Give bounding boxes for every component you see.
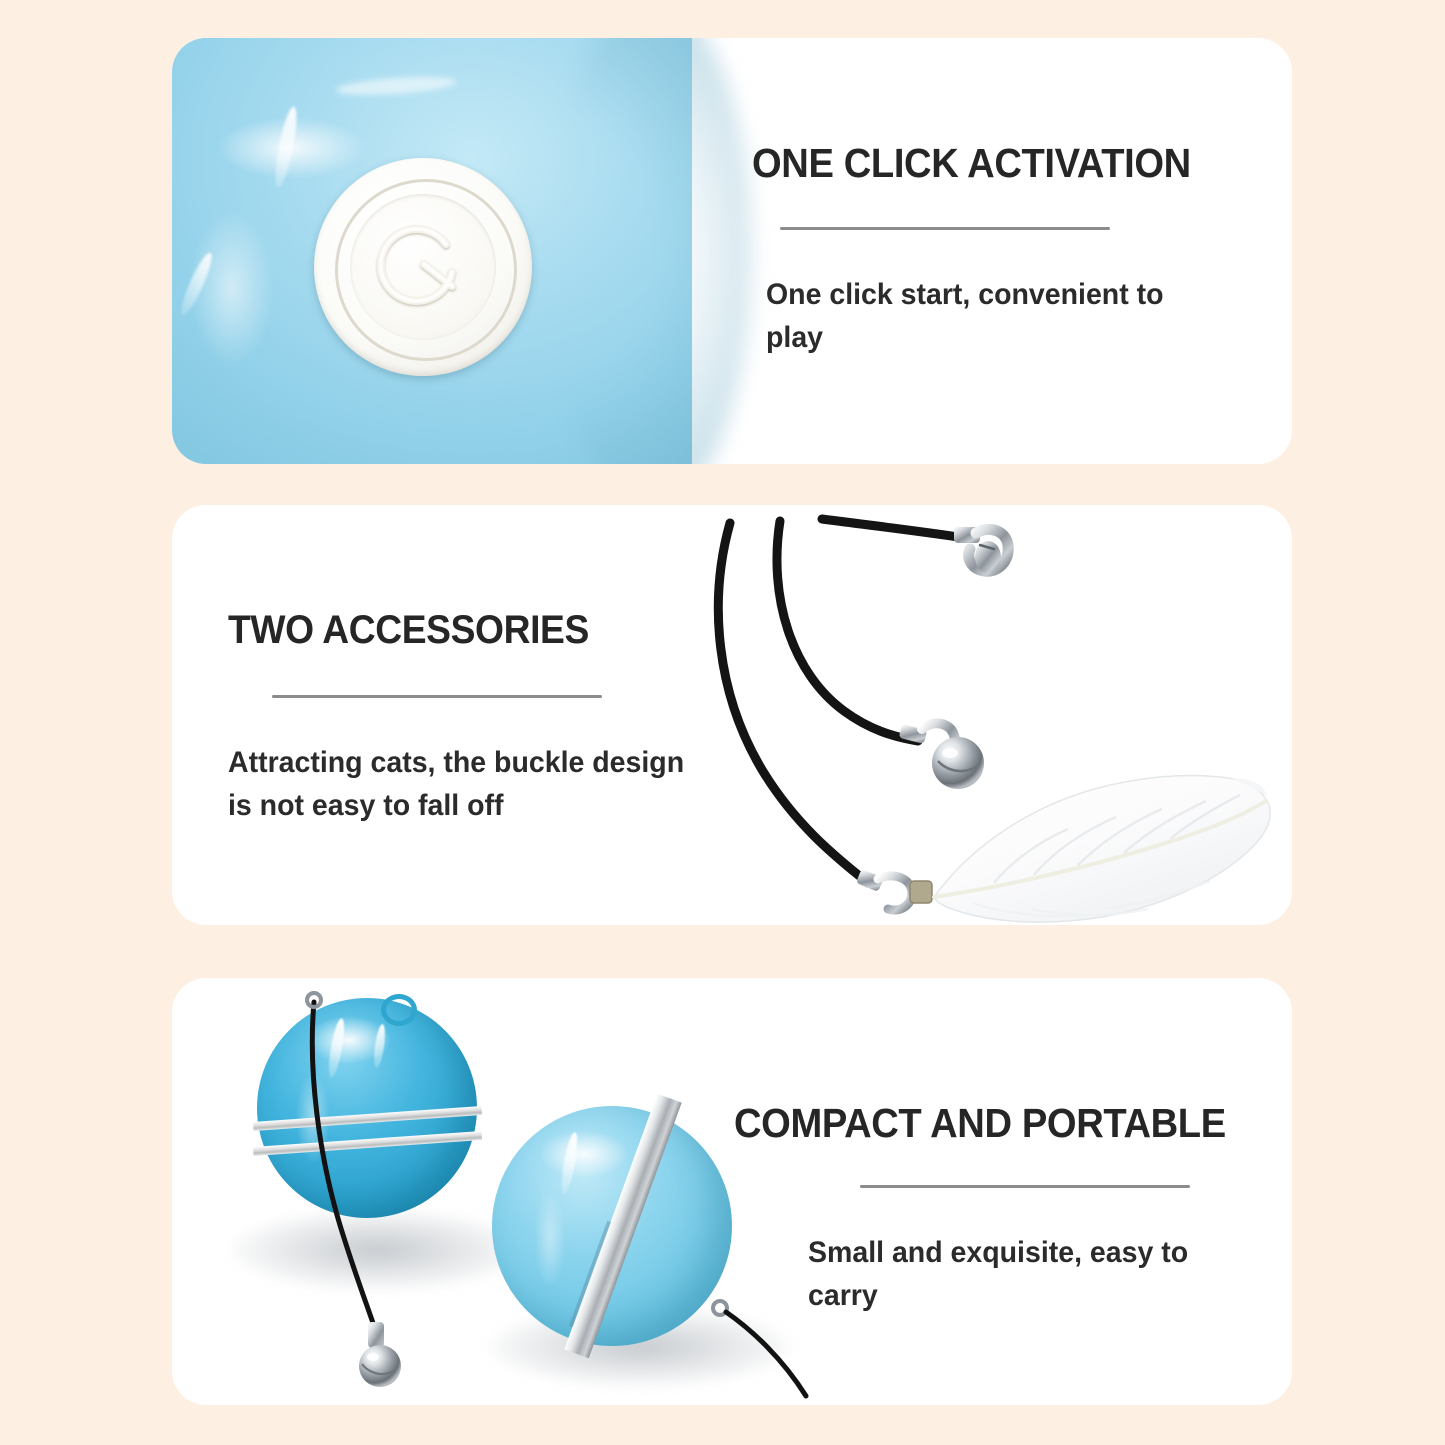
ball-highlight — [271, 105, 300, 188]
power-button[interactable] — [314, 158, 532, 376]
panel-three-text: COMPACT AND PORTABLE Small and exquisite… — [734, 1102, 1274, 1317]
feather-icon — [934, 775, 1270, 922]
right-ball-cord-group — [172, 978, 832, 1405]
feather-clasp-icon — [856, 869, 932, 910]
accessory-cord — [822, 519, 958, 537]
panel-two-text: TWO ACCESSORIES Attracting cats, the buc… — [228, 609, 748, 827]
accessory-cord — [777, 521, 918, 741]
ball-edge-shading — [552, 38, 752, 464]
panel-three-heading: COMPACT AND PORTABLE — [734, 1102, 1236, 1145]
ball-highlight — [336, 74, 457, 98]
bell-icon — [899, 723, 984, 789]
two-balls-photo — [172, 978, 832, 1405]
ball-highlight — [177, 250, 217, 317]
panel-three-body: Small and exquisite, easy to carry — [808, 1232, 1245, 1317]
panel-one-heading: ONE CLICK ACTIVATION — [752, 142, 1217, 185]
lobster-clasp-icon — [954, 527, 1008, 573]
panel-two-body: Attracting cats, the buckle design is no… — [228, 742, 703, 827]
power-icon — [372, 214, 476, 318]
accessory-cord — [726, 1312, 806, 1396]
panel-two-divider — [272, 695, 602, 698]
feature-panel-one-click-activation: ONE CLICK ACTIVATION One click start, co… — [172, 38, 1292, 464]
infographic-stage: ONE CLICK ACTIVATION One click start, co… — [0, 0, 1445, 1445]
accessories-photo — [672, 505, 1292, 925]
feature-panel-compact-and-portable: COMPACT AND PORTABLE Small and exquisite… — [172, 978, 1292, 1405]
panel-one-text: ONE CLICK ACTIVATION One click start, co… — [752, 142, 1252, 359]
panel-one-body: One click start, convenient to play — [766, 274, 1213, 359]
feature-panel-two-accessories: TWO ACCESSORIES Attracting cats, the buc… — [172, 505, 1292, 925]
panel-two-heading: TWO ACCESSORIES — [228, 609, 712, 651]
panel-one-divider — [780, 227, 1110, 230]
ball-closeup-photo — [172, 38, 692, 464]
panel-three-divider — [860, 1185, 1190, 1188]
